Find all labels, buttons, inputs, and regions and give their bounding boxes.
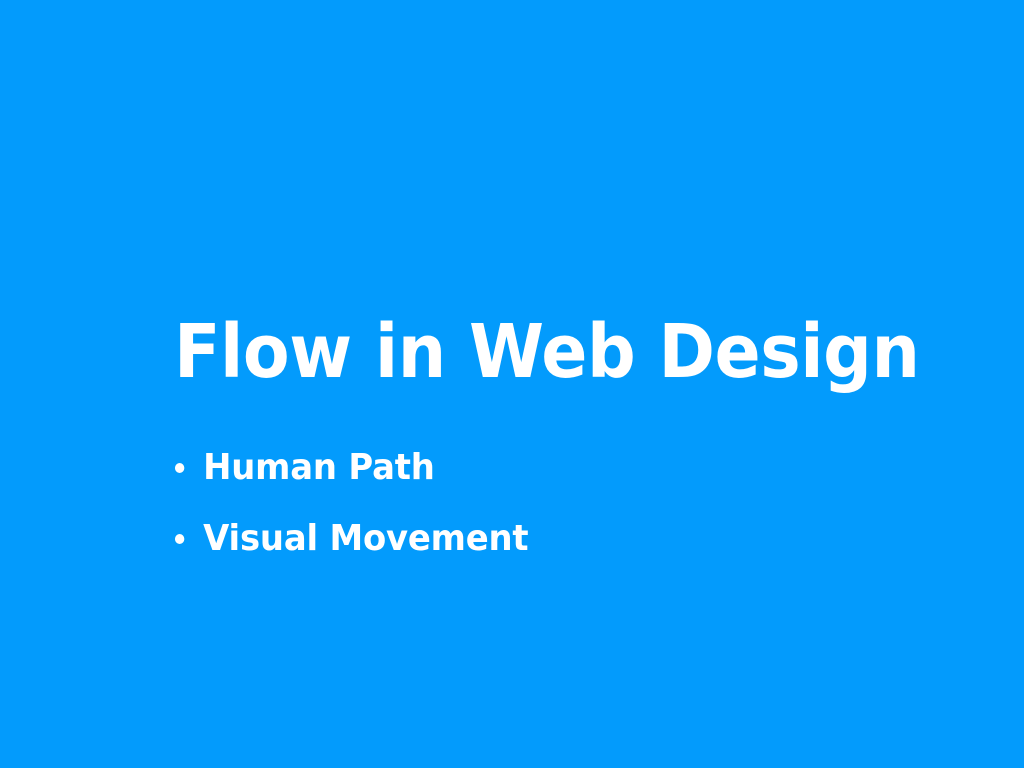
slide-content-area: Flow in Web Design Human Path Visual Mov… [0,0,1024,768]
bullet-item-label: Human Path [203,446,435,490]
presentation-slide: Flow in Web Design Human Path Visual Mov… [0,0,1024,768]
list-item: Human Path [174,446,907,517]
bullet-dot-icon [175,534,184,544]
slide-title: Flow in Web Design [174,312,873,392]
list-item: Visual Movement [174,517,907,588]
slide-bullet-list: Human Path Visual Movement [174,446,954,588]
bullet-dot-icon [175,463,184,473]
bullet-item-label: Visual Movement [203,517,528,561]
